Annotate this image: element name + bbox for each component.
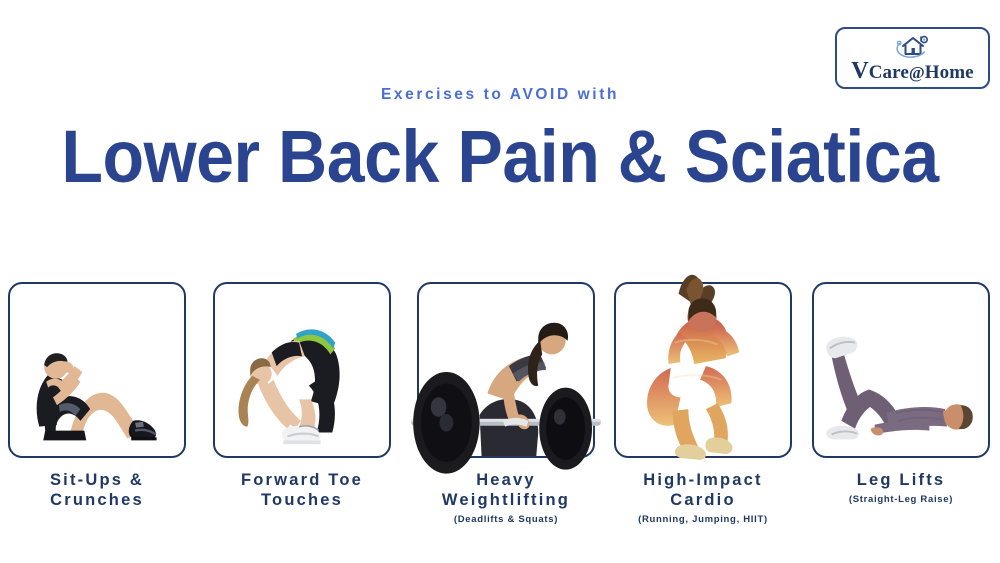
card-label: Forward Toe Touches: [213, 470, 391, 510]
card-frame: [614, 282, 792, 458]
exercise-card-high-impact-cardio[interactable]: High-Impact Cardio (Running, Jumping, HI…: [614, 282, 792, 525]
card-image-clip: [814, 284, 988, 456]
infographic-canvas: VCare@Home Exercises to AVOID with Lower…: [0, 0, 1000, 563]
card-label: Sit-Ups & Crunches: [8, 470, 186, 510]
eyebrow-text: Exercises to AVOID with: [0, 86, 1000, 104]
exercise-card-strip: Sit-Ups & Crunches: [0, 282, 1000, 552]
card-frame: [8, 282, 186, 458]
brand-logo-care: Care: [869, 62, 909, 83]
card-frame: [213, 282, 391, 458]
man-doing-sit-up-photo: [10, 284, 184, 456]
card-sublabel: (Deadlifts & Squats): [417, 514, 595, 525]
exercise-card-sit-ups-crunches[interactable]: Sit-Ups & Crunches: [8, 282, 186, 514]
woman-jumping-cardio-photo: [616, 284, 790, 456]
house-with-stethoscope-icon: [885, 32, 941, 58]
card-image-clip: [215, 284, 389, 456]
card-frame: [812, 282, 990, 458]
exercise-card-forward-toe-touches[interactable]: Forward Toe Touches: [213, 282, 391, 514]
exercise-card-heavy-weightlifting[interactable]: Heavy Weightlifting (Deadlifts & Squats): [417, 282, 595, 525]
brand-logo[interactable]: VCare@Home: [835, 27, 990, 89]
page-title: Lower Back Pain & Sciatica: [40, 118, 960, 196]
card-image-clip: [616, 284, 790, 456]
card-label: Leg Lifts: [812, 470, 990, 490]
woman-straight-leg-raise-photo: [814, 284, 988, 456]
card-image-clip: [10, 284, 184, 456]
brand-logo-home: Home: [925, 62, 974, 83]
card-label: High-Impact Cardio: [614, 470, 792, 510]
brand-logo-text: VCare@Home: [851, 59, 973, 83]
exercise-card-leg-lifts[interactable]: Leg Lifts (Straight-Leg Raise): [812, 282, 990, 505]
card-sublabel: (Running, Jumping, HIIT): [614, 514, 792, 525]
woman-forward-toe-touch-photo: [215, 284, 389, 456]
card-image-clip: [419, 284, 593, 456]
brand-logo-v: V: [851, 58, 868, 84]
brand-logo-at: @: [909, 63, 925, 82]
card-sublabel: (Straight-Leg Raise): [812, 494, 990, 505]
woman-deadlifting-barbell-photo: [419, 284, 593, 456]
card-label: Heavy Weightlifting: [417, 470, 595, 510]
card-frame: [417, 282, 595, 458]
